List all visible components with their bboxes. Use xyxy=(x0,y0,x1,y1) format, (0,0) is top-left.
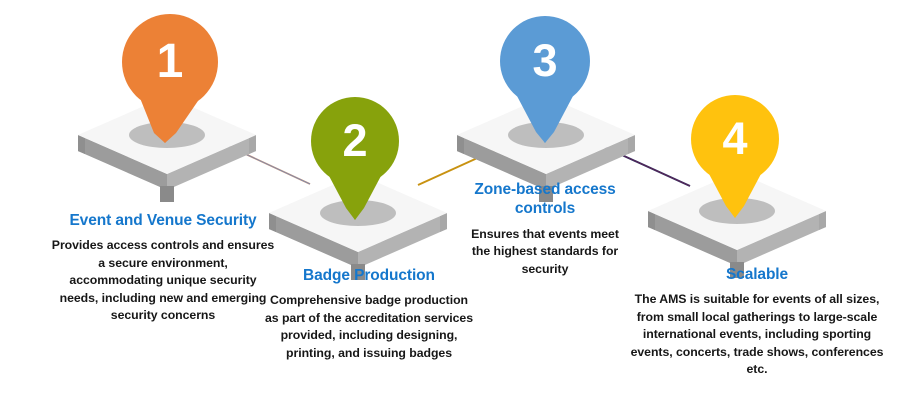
pin-shadow-3 xyxy=(508,122,584,148)
platform-step-4 xyxy=(648,172,826,278)
step-text-block-2: Badge Production Comprehensive badge pro… xyxy=(264,266,474,362)
step-description-4: The AMS is suitable for events of all si… xyxy=(623,291,891,378)
platform-step-2 xyxy=(269,174,447,280)
infographic-canvas: 1 2 3 4 Event and Venue Security Provide… xyxy=(0,0,904,402)
step-description-1: Provides access controls and ensures a s… xyxy=(38,237,288,324)
platform-step-1 xyxy=(78,96,256,202)
pin-number-1: 1 xyxy=(146,38,194,86)
step-title-3: Zone-based access controls xyxy=(462,180,628,219)
pin-number-4: 4 xyxy=(711,116,759,161)
step-title-1: Event and Venue Security xyxy=(38,211,288,230)
step-title-2: Badge Production xyxy=(264,266,474,285)
step-description-3: Ensures that events meet the highest sta… xyxy=(462,226,628,278)
connector-2-to-3 xyxy=(418,145,506,185)
connector-1-to-2 xyxy=(226,145,310,184)
step-description-2: Comprehensive badge production as part o… xyxy=(264,292,474,362)
step-title-4: Scalable xyxy=(623,265,891,284)
pin-number-3: 3 xyxy=(521,38,569,83)
pin-shadow-4 xyxy=(699,198,775,224)
pin-shadow-2 xyxy=(320,200,396,226)
step-text-block-3: Zone-based access controls Ensures that … xyxy=(462,180,628,278)
pin-number-2: 2 xyxy=(331,118,379,163)
pin-shadow-1 xyxy=(129,122,205,148)
step-text-block-4: Scalable The AMS is suitable for events … xyxy=(623,265,891,379)
step-text-block-1: Event and Venue Security Provides access… xyxy=(38,211,288,325)
